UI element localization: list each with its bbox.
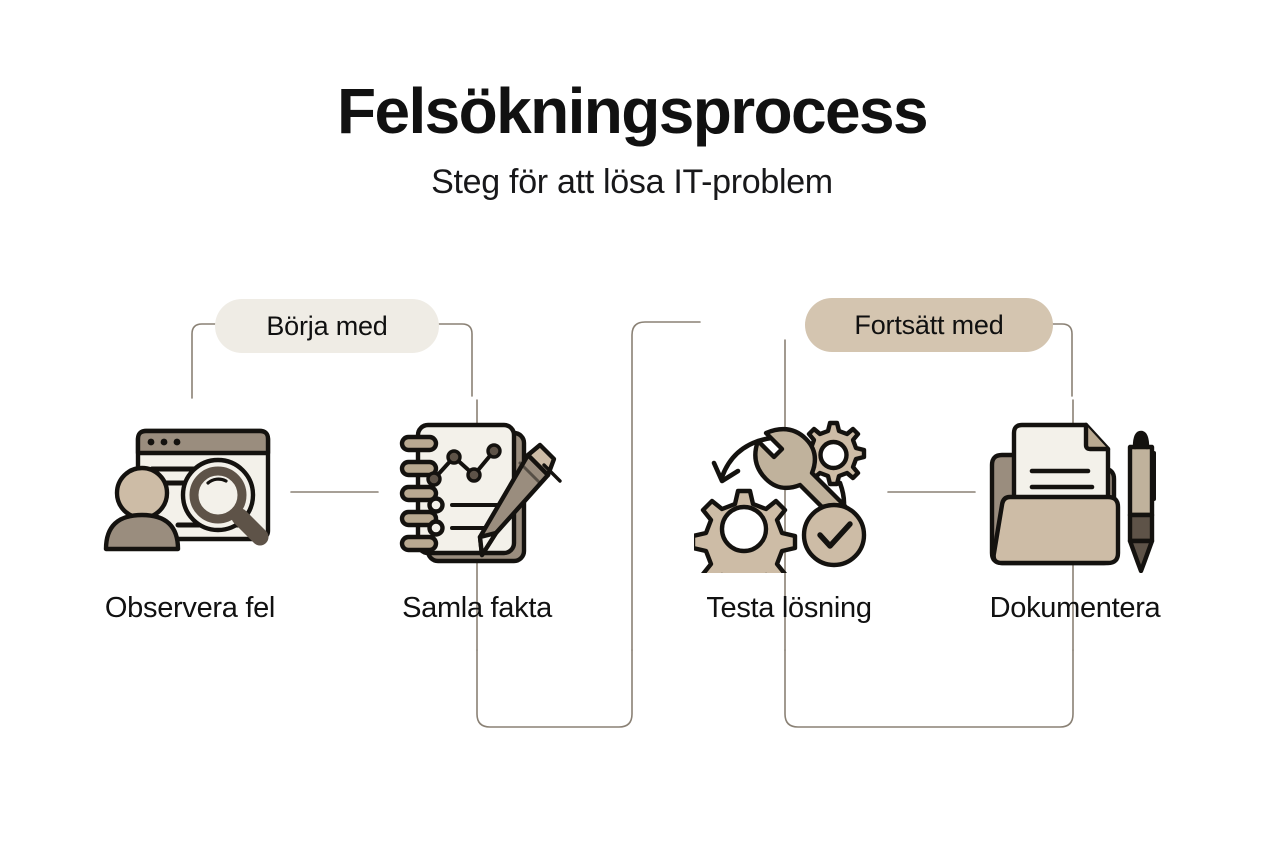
step-3[interactable]: Dokumentera [965,408,1185,625]
gears-wrench-check-icon [679,408,899,578]
step-label-samla-fakta: Samla fakta [367,592,587,625]
step-label-testa-losning: Testa lösning [679,592,899,625]
notebook-chart-pen-icon [367,408,587,578]
group-badge-start-label: Börja med [266,311,387,342]
step-label-dokumentera: Dokumentera [965,592,1185,625]
step-observera-fel[interactable]: Observera fel [80,408,300,625]
group-badge-continue-label: Fortsätt med [854,310,1003,341]
person-browser-magnifier-icon [80,408,300,578]
group-badge-start[interactable]: Börja med [215,299,439,353]
bracket-continue-bottom [785,650,1073,727]
step-testa-losning[interactable]: Testa lösning [679,408,899,625]
infographic-page: Felsökningsprocess Steg för att lösa IT-… [0,0,1264,848]
bracket-start-bottom [477,650,632,727]
group-badge-continue[interactable]: Fortsätt med [805,298,1053,352]
step-samla-fakta[interactable]: Samla fakta [367,408,587,625]
folder-document-pen-icon [965,408,1185,578]
step-label-observera-fel: Observera fel [80,592,300,625]
